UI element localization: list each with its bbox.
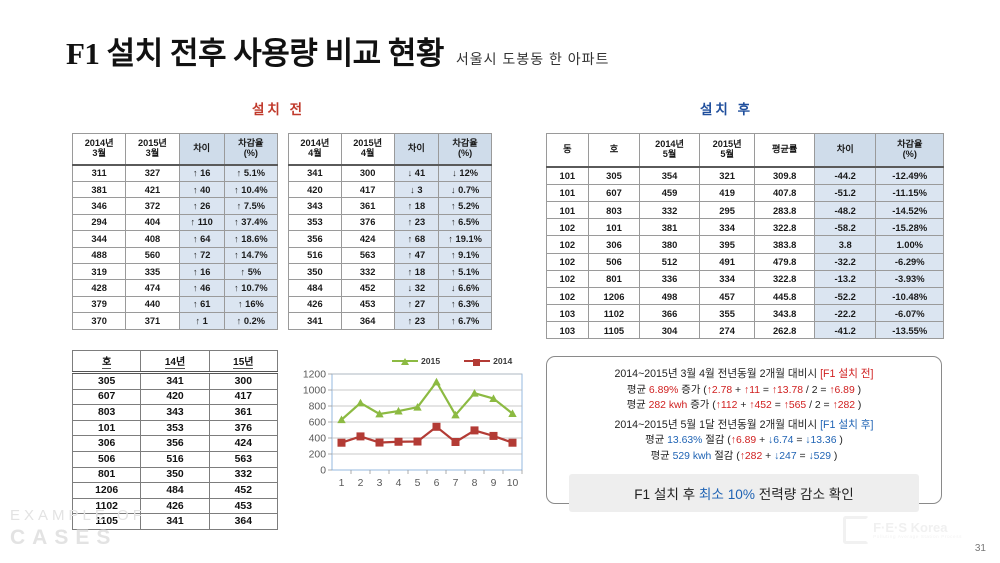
table-row: 370371↑ 1↑ 0.2% [73,313,278,329]
title-main-text: F1 설치 전후 사용량 비교 현황 [66,28,444,73]
column-header: 동 [547,134,589,167]
table-cell: 356 [289,231,342,247]
watermark-line-1: EXAMPLE OF [10,508,146,523]
table-cell: ↑ 18.6% [224,231,277,247]
table-cell: -15.28% [876,219,944,236]
column-header: 차이 [814,134,876,167]
table-cell: ↑ 26 [179,198,224,214]
table-cell: 294 [73,214,126,230]
y-tick-label: 1000 [303,386,326,397]
table-row: 102101381334322.8-58.2-15.28% [547,219,944,236]
table-cell: 453 [209,498,277,514]
y-tick-label: 400 [309,434,327,445]
table-cell: 506 [73,451,141,467]
table-cell: 801 [73,467,141,483]
y-tick-label: 1200 [303,370,326,381]
x-tick-label: 8 [472,478,478,489]
company-logo: F·E·S Korea Polluting Average Station Pr… [843,516,962,544]
table-row: 1021206498457445.8-52.2-10.48% [547,287,944,304]
table-cell: 346 [73,198,126,214]
marker-2014 [490,432,498,440]
table-cell: 353 [289,214,342,230]
table-cell: 343 [289,198,342,214]
table-cell: -44.2 [814,167,876,185]
table-cell: ↑ 16 [179,165,224,182]
marker-2014 [509,439,517,447]
x-tick-label: 1 [339,478,345,489]
column-header: 평균률 [755,134,815,167]
table-row: 101607459419407.8-51.2-11.15% [547,184,944,201]
table-cell: 801 [588,270,640,287]
table-body: 311327↑ 16↑ 5.1%381421↑ 40↑ 10.4%346372↑… [73,165,278,329]
table-cell: ↑ 27 [394,296,439,312]
table-header-row: 동호2014년5월2015년5월평균률차이차감율(%) [547,134,944,167]
summary-line-4-tag: [F1 설치 후] [820,419,873,431]
table-cell: ↑ 6.7% [439,313,492,329]
table-header-row: 2014년3월2015년3월차이차감율(%) [73,134,278,165]
table-cell: -52.2 [814,287,876,304]
table-cell: 102 [547,253,589,270]
legend-line-green-icon [392,360,418,362]
table-row: 101305354321309.8-44.2-12.49% [547,167,944,185]
table-cell: ↓ 32 [394,280,439,296]
x-tick-label: 7 [453,478,459,489]
x-tick-label: 4 [396,478,402,489]
table-cell: -32.2 [814,253,876,270]
table-row: 801350332 [73,467,278,483]
table-cell: 327 [126,165,179,182]
table-cell: 395 [699,236,755,253]
table-cell: -41.2 [814,322,876,339]
table-row: 488560↑ 72↑ 14.7% [73,247,278,263]
table-cell: 420 [289,181,342,197]
table-row: 428474↑ 46↑ 10.7% [73,280,278,296]
table-cell: 607 [588,184,640,201]
caption-after-install: 설치 후 [700,98,753,118]
table-cell: 452 [209,483,277,499]
table-row: 1031105304274262.8-41.2-13.55% [547,322,944,339]
table-cell: ↑ 37.4% [224,214,277,230]
table-header-row: 2014년4월2015년4월차이차감율(%) [289,134,492,165]
table-cell: 452 [341,280,394,296]
table-cell: ↑ 5.1% [224,165,277,182]
table-cell: 101 [547,201,589,218]
table-row: 319335↑ 16↑ 5% [73,263,278,279]
table-cell: 305 [588,167,640,185]
logo-mark-icon [843,516,869,544]
table-cell: 498 [640,287,700,304]
table-cell: ↑ 19.1% [439,231,492,247]
summary-line-6: 평균 529 kwh 절감 (↑282 + ↓247 = ↓529 ) [555,449,933,465]
table-cell: ↓ 6.6% [439,280,492,296]
table-cell: 1206 [73,483,141,499]
column-header: 2015년3월 [126,134,179,165]
table-cell: 426 [289,296,342,312]
table-march-comparison: 2014년3월2015년3월차이차감율(%) 311327↑ 16↑ 5.1%3… [72,133,278,330]
table-cell: ↑ 6.5% [439,214,492,230]
table-cell: 417 [209,389,277,405]
table-cell: 102 [547,236,589,253]
summary-line-4-text: 2014~2015년 5월 1달 전년동월 2개월 대비시 [615,419,821,431]
table-row: 305341300 [73,373,278,390]
y-tick-label: 800 [309,402,327,413]
watermark-line-2: CASES [10,527,146,548]
marker-2014 [376,439,384,447]
table-cell: 350 [289,263,342,279]
table-cell: 512 [640,253,700,270]
table-cell: ↑ 5% [224,263,277,279]
table-cell: 404 [126,214,179,230]
table-row: 101803332295283.8-48.2-14.52% [547,201,944,218]
table-cell: 381 [73,181,126,197]
table-row: 356424↑ 68↑ 19.1% [289,231,492,247]
table-cell: 322.8 [755,219,815,236]
table-cell: ↑ 5.2% [439,198,492,214]
table-cell: 474 [126,280,179,296]
table-row: 350332↑ 18↑ 5.1% [289,263,492,279]
table-cell: 353 [141,420,209,436]
x-tick-label: 9 [491,478,497,489]
table-row: 102506512491479.8-32.2-6.29% [547,253,944,270]
summary-line-1-tag: [F1 설치 전] [820,368,873,380]
table-row: 381421↑ 40↑ 10.4% [73,181,278,197]
table-cell: 563 [209,451,277,467]
table-cell: 101 [547,167,589,185]
table-cell: 383.8 [755,236,815,253]
table-cell: 424 [341,231,394,247]
table-cell: ↑ 61 [179,296,224,312]
table-cell: -10.48% [876,287,944,304]
table-cell: -6.07% [876,305,944,322]
table-cell: 334 [699,219,755,236]
legend-item-2015: 2015 [392,356,440,366]
table-cell: 420 [141,389,209,405]
table-cell: 262.8 [755,322,815,339]
table-cell: 344 [73,231,126,247]
logo-tagline: Polluting Average Station Process [873,534,962,539]
table-cell: 306 [588,236,640,253]
column-header: 차감율(%) [224,134,277,165]
table-cell: 445.8 [755,287,815,304]
column-header: 호 [73,351,141,373]
table-body: 341300↓ 41↓ 12%420417↓ 3↓ 0.7%343361↑ 18… [289,165,492,329]
table-row: 341300↓ 41↓ 12% [289,165,492,182]
logo-text: F·E·S Korea [873,521,962,534]
table-cell: ↑ 14.7% [224,247,277,263]
marker-2014 [471,426,479,434]
table-cell: ↓ 41 [394,165,439,182]
table-cell: 332 [341,263,394,279]
column-header: 호 [588,134,640,167]
chart-legend: 2015 2014 [392,356,512,366]
table-cell: 1206 [588,287,640,304]
slide-root: F1 설치 전후 사용량 비교 현황 서울시 도봉동 한 아파트 설치 전 설치… [0,0,1000,563]
table-cell: 356 [141,436,209,452]
table-cell: 311 [73,165,126,182]
table-row: 311327↑ 16↑ 5.1% [73,165,278,182]
marker-2014 [414,438,422,446]
table-cell: 101 [547,184,589,201]
table-cell: 428 [73,280,126,296]
table-cell: 417 [341,181,394,197]
x-tick-label: 6 [434,478,440,489]
table-cell: 381 [640,219,700,236]
table-cell: 376 [341,214,394,230]
table-cell: ↓ 12% [439,165,492,182]
table-cell: ↑ 18 [394,263,439,279]
table-cell: 426 [141,498,209,514]
table-cell: 343.8 [755,305,815,322]
table-cell: 407.8 [755,184,815,201]
table-cell: ↑ 7.5% [224,198,277,214]
table-cell: -22.2 [814,305,876,322]
table-cell: ↑ 68 [394,231,439,247]
table-cell: -3.93% [876,270,944,287]
table-cell: ↑ 1 [179,313,224,329]
table-cell: ↑ 23 [394,313,439,329]
table-cell: 336 [640,270,700,287]
table-cell: 319 [73,263,126,279]
table-cell: 459 [640,184,700,201]
table-cell: 341 [141,514,209,530]
table-cell: 370 [73,313,126,329]
table-cell: 364 [209,514,277,530]
table-row: 102306380395383.83.81.00% [547,236,944,253]
table-cell: 341 [289,313,342,329]
legend-label-2014: 2014 [493,356,512,366]
table-cell: 1102 [588,305,640,322]
column-header: 2015년5월 [699,134,755,167]
table-cell: ↓ 0.7% [439,181,492,197]
legend-line-red-icon [464,360,490,362]
table-cell: 424 [209,436,277,452]
table-cell: ↑ 64 [179,231,224,247]
table-cell: 488 [73,247,126,263]
table-cell: ↑ 16% [224,296,277,312]
table-cell: 453 [341,296,394,312]
column-header: 차감율(%) [439,134,492,165]
table-cell: -14.52% [876,201,944,218]
table-row: 484452↓ 32↓ 6.6% [289,280,492,296]
table-cell: 101 [588,219,640,236]
table-cell: 300 [341,165,394,182]
table-body: 101305354321309.8-44.2-12.49%10160745941… [547,167,944,339]
table-cell: 379 [73,296,126,312]
table-cell: -6.29% [876,253,944,270]
table-cell: 371 [126,313,179,329]
table-cell: 355 [699,305,755,322]
table-raw-usage: 호14년15년 30534130060742041780334336110135… [72,350,278,530]
table-cell: 560 [126,247,179,263]
summary-line-1-text: 2014~2015년 3월 4월 전년동월 2개월 대비시 [615,368,821,380]
table-cell: -48.2 [814,201,876,218]
y-tick-label: 0 [320,466,326,477]
table-cell: 309.8 [755,167,815,185]
table-cell: 101 [73,420,141,436]
table-cell: 419 [699,184,755,201]
table-row: 353376↑ 23↑ 6.5% [289,214,492,230]
table-cell: ↑ 40 [179,181,224,197]
table-cell: 300 [209,373,277,390]
table-cell: 516 [141,451,209,467]
column-header: 14년 [141,351,209,373]
table-cell: 350 [141,467,209,483]
column-header: 2014년5월 [640,134,700,167]
table-cell: ↑ 46 [179,280,224,296]
page-number: 31 [975,543,986,554]
table-cell: ↑ 110 [179,214,224,230]
table-row: 102801336334322.8-13.2-3.93% [547,270,944,287]
summary-conclusion: F1 설치 후 최소 10% 전력량 감소 확인 [569,474,919,512]
table-cell: 305 [73,373,141,390]
table-cell: 484 [289,280,342,296]
table-cell: 1105 [588,322,640,339]
table-cell: -12.49% [876,167,944,185]
marker-2014 [357,432,365,440]
table-cell: 421 [126,181,179,197]
table-cell: ↑ 10.4% [224,181,277,197]
table-cell: 102 [547,287,589,304]
summary-line-1: 2014~2015년 3월 4월 전년동월 2개월 대비시 [F1 설치 전] [555,367,933,383]
table-cell: 295 [699,201,755,218]
table-cell: -58.2 [814,219,876,236]
table-cell: 334 [699,270,755,287]
table-cell: 361 [341,198,394,214]
table-cell: 372 [126,198,179,214]
table-cell: ↓ 3 [394,181,439,197]
table-cell: 332 [640,201,700,218]
table-cell: ↑ 5.1% [439,263,492,279]
table-cell: 3.8 [814,236,876,253]
caption-before-install: 설치 전 [252,98,305,118]
table-row: 426453↑ 27↑ 6.3% [289,296,492,312]
title-subtitle-text: 서울시 도봉동 한 아파트 [456,49,609,69]
table-cell: 491 [699,253,755,270]
x-tick-label: 2 [358,478,364,489]
table-cell: ↑ 6.3% [439,296,492,312]
table-cell: 803 [73,405,141,421]
table-row: 306356424 [73,436,278,452]
table-cell: -51.2 [814,184,876,201]
column-header: 차이 [394,134,439,165]
table-row: 420417↓ 3↓ 0.7% [289,181,492,197]
table-header-row: 호14년15년 [73,351,278,373]
table-cell: ↑ 47 [394,247,439,263]
table-cell: 103 [547,322,589,339]
table-cell: ↑ 9.1% [439,247,492,263]
table-cell: 341 [289,165,342,182]
table-cell: 361 [209,405,277,421]
chart-plot-area: 02004006008001000120012345678910 [296,370,528,506]
table-cell: -11.15% [876,184,944,201]
table-row: 506516563 [73,451,278,467]
table-cell: 563 [341,247,394,263]
table-cell: 364 [341,313,394,329]
summary-line-2: 평균 6.89% 증가 (↑2.78 + ↑11 = ↑13.78 / 2 = … [555,383,933,399]
legend-item-2014: 2014 [464,356,512,366]
table-may-after-install: 동호2014년5월2015년5월평균률차이차감율(%) 101305354321… [546,133,944,339]
table-cell: ↑ 23 [394,214,439,230]
table-row: 344408↑ 64↑ 18.6% [73,231,278,247]
table-cell: 1.00% [876,236,944,253]
marker-2014 [433,423,441,431]
summary-line-4: 2014~2015년 5월 1달 전년동월 2개월 대비시 [F1 설치 후] [555,418,933,434]
table-row: 343361↑ 18↑ 5.2% [289,198,492,214]
marker-2014 [395,438,403,446]
table-cell: ↑ 18 [394,198,439,214]
x-tick-label: 3 [377,478,383,489]
table-cell: 332 [209,467,277,483]
table-row: 346372↑ 26↑ 7.5% [73,198,278,214]
summary-line-5: 평균 13.63% 절감 (↑6.89 + ↓6.74 = ↓13.36 ) [555,433,933,449]
table-cell: 102 [547,219,589,236]
table-cell: ↑ 0.2% [224,313,277,329]
table-cell: 479.8 [755,253,815,270]
table-row: 516563↑ 47↑ 9.1% [289,247,492,263]
table-cell: -13.55% [876,322,944,339]
column-header: 2014년3월 [73,134,126,165]
usage-comparison-chart: 2015 2014 020040060080010001200123456789… [296,356,528,506]
table-cell: 440 [126,296,179,312]
column-header: 2015년4월 [341,134,394,165]
table-cell: ↑ 16 [179,263,224,279]
column-header: 2014년4월 [289,134,342,165]
table-cell: 376 [209,420,277,436]
table-cell: 274 [699,322,755,339]
y-tick-label: 600 [309,418,327,429]
marker-2014 [452,438,460,446]
table-cell: 506 [588,253,640,270]
table-cell: 283.8 [755,201,815,218]
summary-line-3: 평균 282 kwh 증가 (↑112 + ↑452 = ↑565 / 2 = … [555,398,933,414]
x-tick-label: 10 [507,478,519,489]
table-cell: 803 [588,201,640,218]
table-cell: 516 [289,247,342,263]
table-row: 1031102366355343.8-22.2-6.07% [547,305,944,322]
table-cell: -13.2 [814,270,876,287]
table-cell: 304 [640,322,700,339]
table-body: 3053413006074204178033433611013533763063… [73,373,278,530]
table-cell: 335 [126,263,179,279]
column-header: 차이 [179,134,224,165]
table-cell: 484 [141,483,209,499]
table-cell: 322.8 [755,270,815,287]
watermark-example-of-cases: EXAMPLE OF CASES [10,508,146,548]
table-cell: 366 [640,305,700,322]
table-cell: 380 [640,236,700,253]
y-tick-label: 200 [309,450,327,461]
table-cell: 102 [547,270,589,287]
summary-box: 2014~2015년 3월 4월 전년동월 2개월 대비시 [F1 설치 전] … [546,356,942,504]
page-title: F1 설치 전후 사용량 비교 현황 서울시 도봉동 한 아파트 [66,28,609,73]
table-cell: 607 [73,389,141,405]
column-header: 차감율(%) [876,134,944,167]
table-april-comparison: 2014년4월2015년4월차이차감율(%) 341300↓ 41↓ 12%42… [288,133,492,330]
table-row: 379440↑ 61↑ 16% [73,296,278,312]
table-cell: 306 [73,436,141,452]
table-row: 294404↑ 110↑ 37.4% [73,214,278,230]
table-row: 341364↑ 23↑ 6.7% [289,313,492,329]
marker-2014 [338,439,346,447]
table-cell: ↑ 72 [179,247,224,263]
table-cell: 103 [547,305,589,322]
table-cell: ↑ 10.7% [224,280,277,296]
table-cell: 341 [141,373,209,390]
table-row: 1206484452 [73,483,278,499]
column-header: 15년 [209,351,277,373]
table-row: 607420417 [73,389,278,405]
table-cell: 343 [141,405,209,421]
